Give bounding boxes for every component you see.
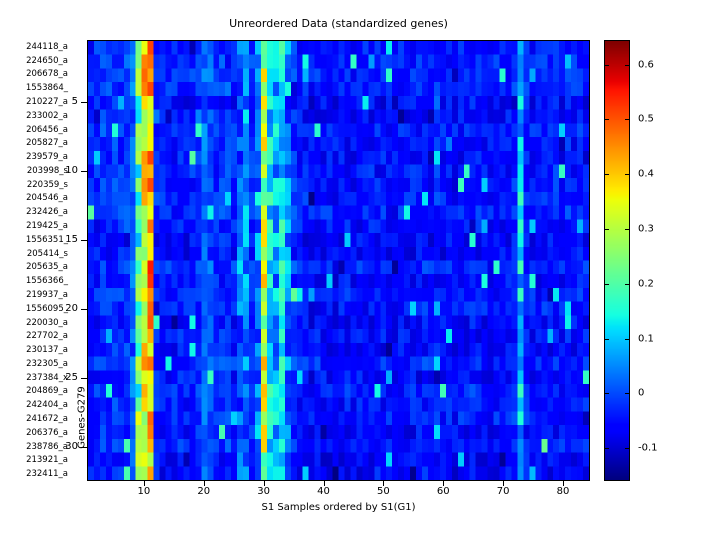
colorbar-tick-label: 0.3 xyxy=(638,224,654,235)
colorbar-tick-mark xyxy=(625,393,630,394)
x-tick-label: 80 xyxy=(557,486,570,497)
x-tick-mark xyxy=(383,481,384,486)
x-tick-mark xyxy=(443,481,444,486)
colorbar-tick-mark xyxy=(604,229,609,230)
colorbar-tick-label: 0 xyxy=(638,388,644,399)
y-axis-title-wrap: Genes-G279 xyxy=(62,180,76,300)
x-tick-label: 10 xyxy=(138,486,151,497)
x-tick-mark xyxy=(563,481,564,486)
colorbar-tick-mark xyxy=(625,339,630,340)
x-tick-label: 70 xyxy=(497,486,510,497)
colorbar-tick-mark xyxy=(604,65,609,66)
x-tick-mark xyxy=(324,481,325,486)
colorbar-tick-label: -0.1 xyxy=(638,443,658,454)
colorbar-tick-mark xyxy=(604,174,609,175)
colorbar-tick-mark xyxy=(604,393,609,394)
heatmap-image xyxy=(88,41,589,480)
x-tick-label: 50 xyxy=(377,486,390,497)
x-axis-title: S1 Samples ordered by S1(G1) xyxy=(87,502,590,513)
colorbar-tick-mark xyxy=(625,448,630,449)
heatmap-canvas xyxy=(88,41,589,480)
colorbar-tick-mark xyxy=(625,284,630,285)
figure-canvas: Unreordered Data (standardized genes) 24… xyxy=(0,0,720,540)
heatmap-axes xyxy=(87,40,590,481)
colorbar-tick-mark xyxy=(604,339,609,340)
y-tick-label: 5 xyxy=(72,97,78,107)
chart-title: Unreordered Data (standardized genes) xyxy=(87,17,590,30)
y-tick-label: 20 xyxy=(65,304,78,314)
x-tick-label: 20 xyxy=(197,486,210,497)
y-axis-title: Genes-G279 xyxy=(77,368,88,468)
colorbar-tick-mark xyxy=(625,174,630,175)
x-tick-mark xyxy=(144,481,145,486)
x-tick-mark xyxy=(264,481,265,486)
colorbar-tick-label: 0.6 xyxy=(638,59,654,70)
colorbar-tick-mark xyxy=(625,65,630,66)
x-tick-label: 40 xyxy=(317,486,330,497)
x-tick-mark xyxy=(204,481,205,486)
colorbar-tick-mark xyxy=(604,448,609,449)
x-tick-mark xyxy=(503,481,504,486)
colorbar-tick-mark xyxy=(625,229,630,230)
colorbar-tick-mark xyxy=(604,284,609,285)
colorbar-tick-mark xyxy=(604,119,609,120)
colorbar-tick-label: 0.5 xyxy=(638,114,654,125)
x-tick-label: 60 xyxy=(437,486,450,497)
x-tick-label: 30 xyxy=(257,486,270,497)
y-tick-label: 10 xyxy=(65,166,78,176)
colorbar-ticks: -0.100.10.20.30.40.50.6 xyxy=(604,40,694,481)
colorbar-tick-label: 0.2 xyxy=(638,278,654,289)
colorbar-tick-label: 0.4 xyxy=(638,169,654,180)
colorbar-tick-mark xyxy=(625,119,630,120)
colorbar-tick-label: 0.1 xyxy=(638,333,654,344)
